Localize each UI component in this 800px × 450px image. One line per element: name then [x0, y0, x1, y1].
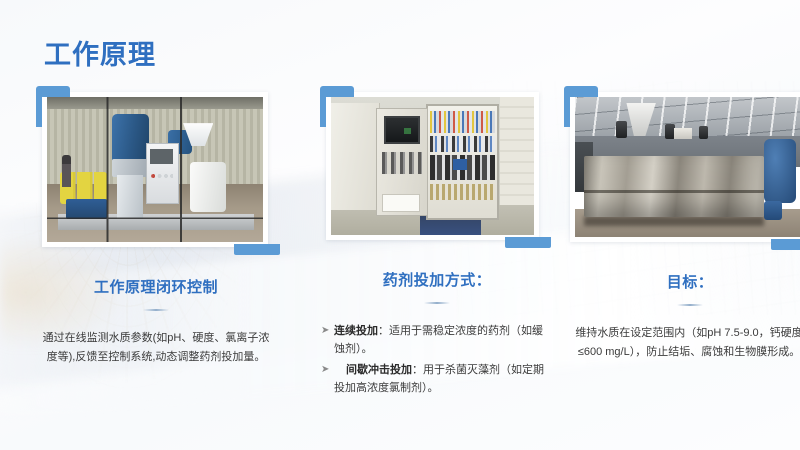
- card-1-heading: 工作原理闭环控制: [42, 276, 270, 297]
- page-title: 工作原理: [44, 33, 156, 72]
- list-item: ➤ 连续投加：适用于需稳定浓度的药剂（如缓蚀剂）。: [320, 322, 552, 358]
- card-1-body: 通过在线监测水质参数(如pH、硬度、氯离子浓度等),反馈至控制系统,动态调整药剂…: [42, 329, 270, 367]
- list-item: ➤ 间歇冲击投加：用于杀菌灭藻剂（如定期投加高浓度氯制剂）。: [320, 361, 552, 397]
- card-2-divider: [424, 302, 450, 304]
- card-closed-loop-control: 工作原理闭环控制 通过在线监测水质参数(如pH、硬度、氯离子浓度等),反馈至控制…: [42, 92, 270, 400]
- corner-accent-bottom-right-icon: [234, 244, 280, 255]
- photo-frame-1: [42, 92, 268, 247]
- card-dosing-method: 药剂投加方式： ➤ 连续投加：适用于需稳定浓度的药剂（如缓蚀剂）。 ➤ 间歇冲击…: [326, 92, 548, 400]
- card-2-bullet-list: ➤ 连续投加：适用于需稳定浓度的药剂（如缓蚀剂）。 ➤ 间歇冲击投加：用于杀菌灭…: [320, 322, 552, 397]
- arrow-bullet-icon: ➤: [320, 322, 334, 340]
- cards-row: 工作原理闭环控制 通过在线监测水质参数(如pH、硬度、氯离子浓度等),反馈至控制…: [0, 92, 800, 400]
- bullet-1-text: 连续投加：适用于需稳定浓度的药剂（如缓蚀剂）。: [334, 322, 552, 358]
- corner-accent-top-left-icon: [320, 86, 354, 97]
- card-3-divider: [677, 304, 703, 306]
- photo-dosing-skid: [47, 97, 263, 242]
- corner-accent-top-left-icon: [36, 86, 70, 97]
- arrow-bullet-icon: ➤: [320, 361, 334, 379]
- card-2-heading: 药剂投加方式：: [326, 269, 548, 290]
- bullet-2-text: 间歇冲击投加：用于杀菌灭藻剂（如定期投加高浓度氯制剂）。: [334, 361, 552, 397]
- card-3-heading: 目标：: [570, 271, 800, 292]
- photo-control-cabinet: [331, 97, 534, 235]
- photo-stainless-tanks: [575, 97, 800, 237]
- card-3-body: 维持水质在设定范围内（如pH 7.5-9.0，钙硬度 ≤600 mg/L），防止…: [564, 324, 800, 362]
- corner-accent-top-left-icon: [564, 86, 598, 97]
- card-1-divider: [143, 309, 169, 311]
- corner-accent-bottom-right-icon: [771, 239, 800, 250]
- bullet-2-label: 间歇冲击投加: [346, 364, 412, 376]
- photo-frame-2: [326, 92, 539, 240]
- bullet-1-label: 连续投加: [334, 325, 378, 337]
- corner-accent-bottom-right-icon: [505, 237, 551, 248]
- card-goal: 目标： 维持水质在设定范围内（如pH 7.5-9.0，钙硬度 ≤600 mg/L…: [570, 92, 800, 400]
- photo-frame-3: [570, 92, 800, 242]
